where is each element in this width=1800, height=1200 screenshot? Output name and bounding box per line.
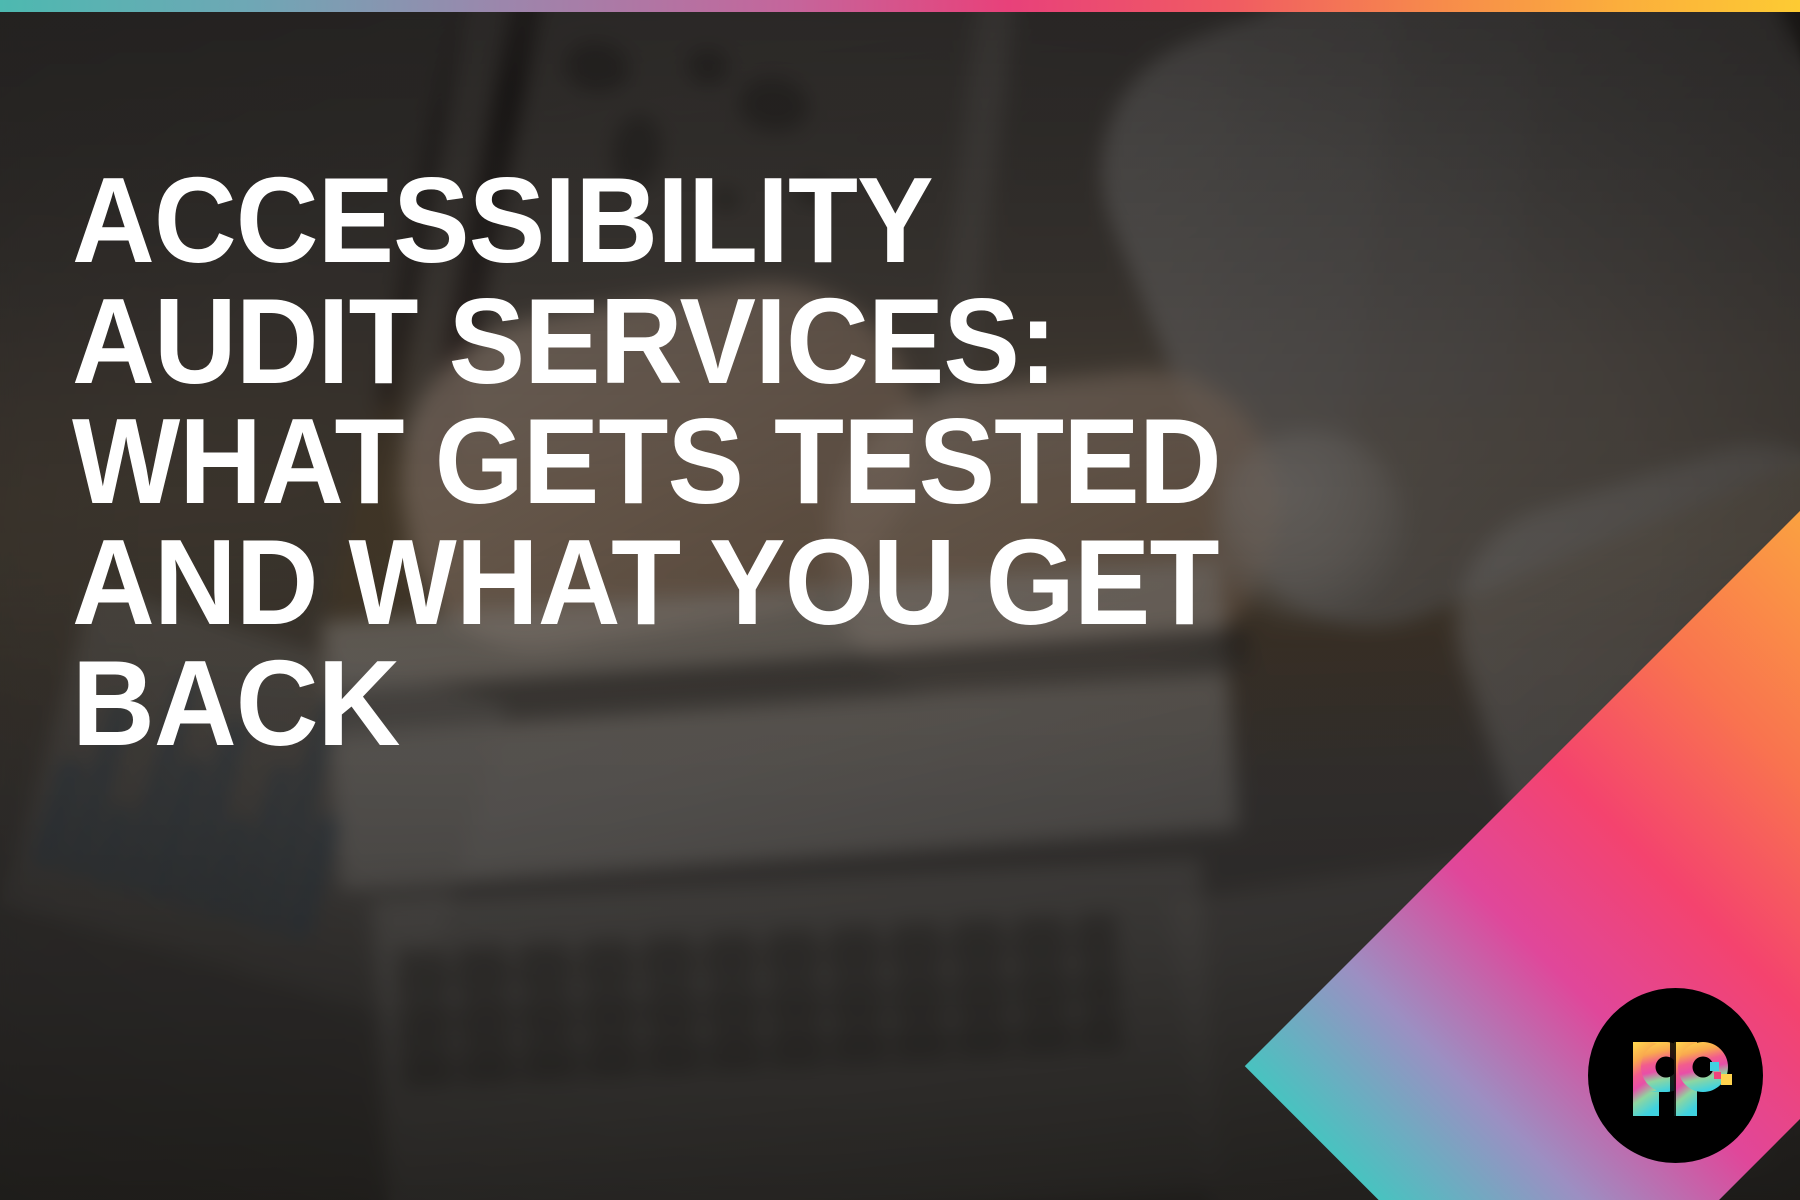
page-title: ACCESSIBILITY AUDIT SERVICES: WHAT GETS … bbox=[72, 160, 1407, 764]
pixel-pp-logo[interactable] bbox=[1588, 988, 1763, 1163]
brand-gradient-bar bbox=[0, 0, 1800, 12]
featured-image-canvas: ACCESSIBILITY AUDIT SERVICES: WHAT GETS … bbox=[0, 0, 1800, 1200]
pp-mark bbox=[1633, 1042, 1728, 1116]
